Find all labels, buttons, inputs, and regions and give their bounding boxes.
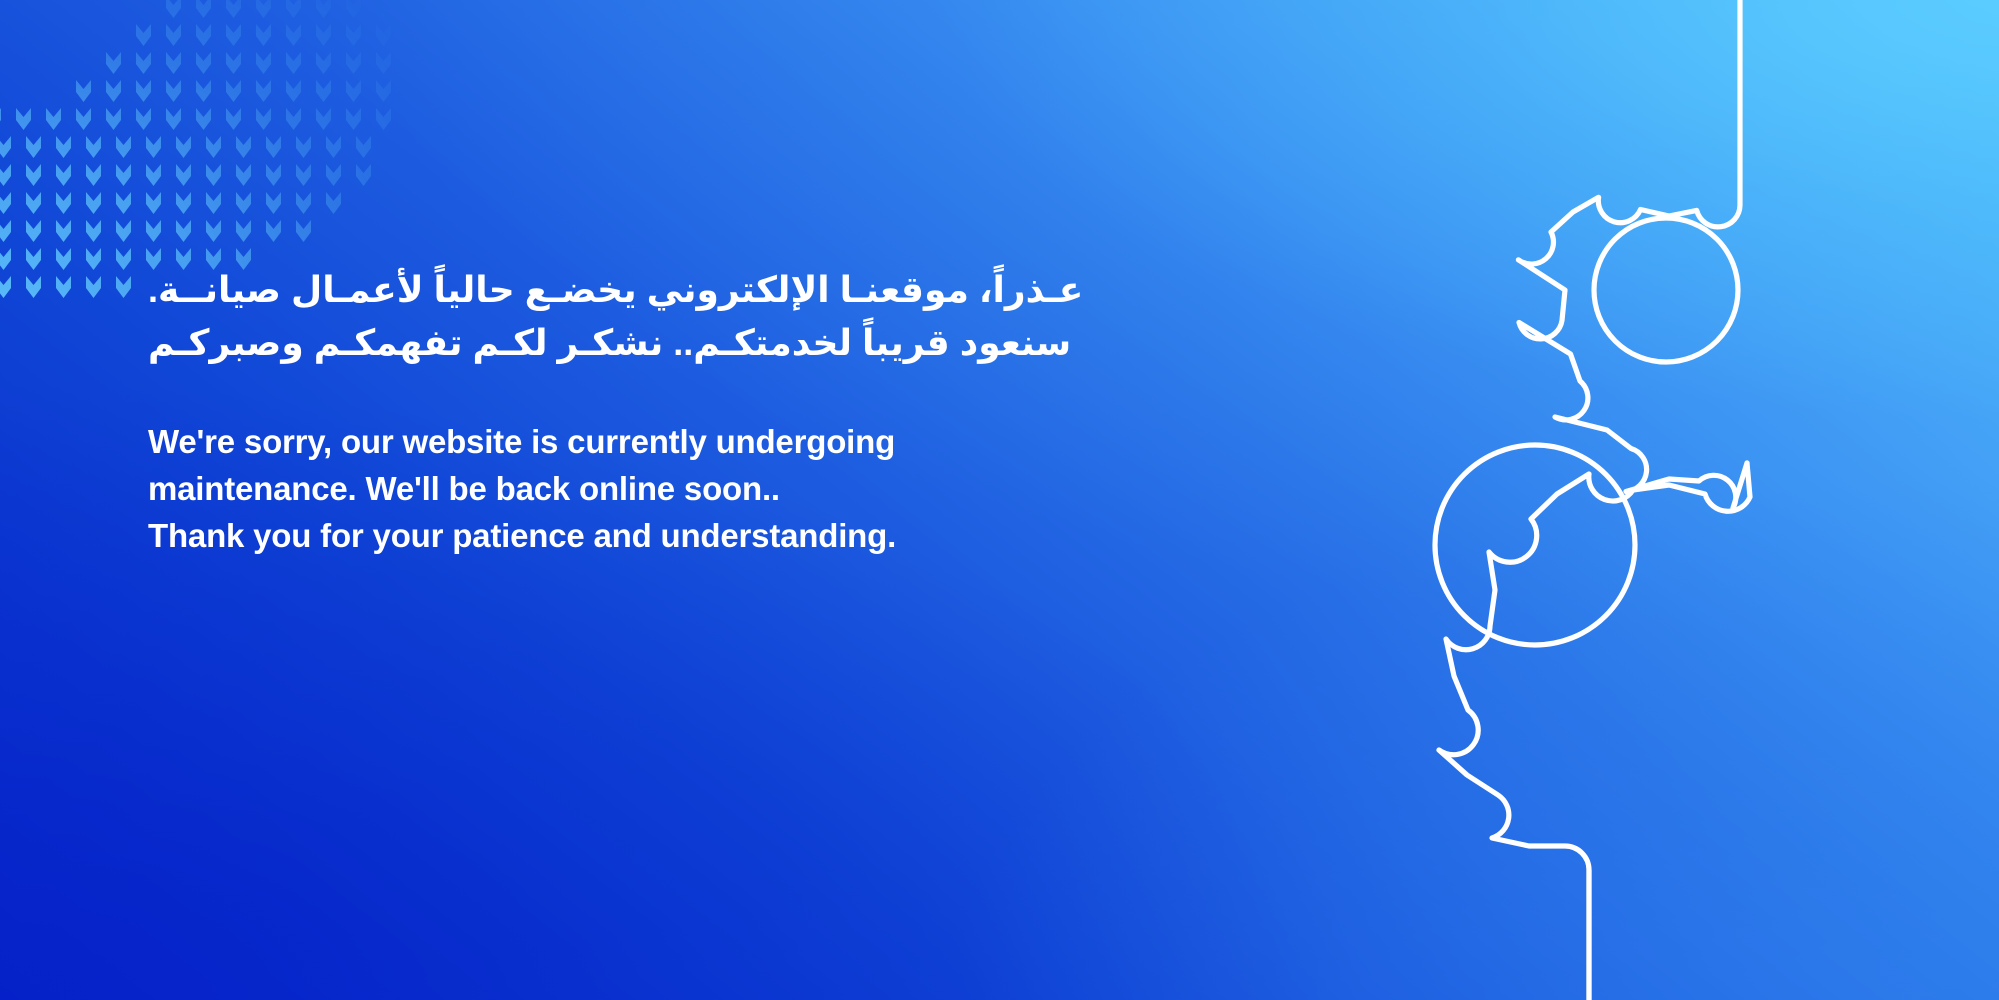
arabic-line-2: سنعود قريباً لخدمتكـم.. نشكـر لكـم تفهمك… (148, 317, 1148, 370)
arabic-line-1: عـذراً، موقعنـا الإلكتروني يخضـع حالياً … (148, 264, 1148, 317)
maintenance-page: عـذراً، موقعنـا الإلكتروني يخضـع حالياً … (0, 0, 1999, 1000)
arabic-message: عـذراً، موقعنـا الإلكتروني يخضـع حالياً … (148, 264, 1148, 369)
english-line-1: We're sorry, our website is currently un… (148, 419, 1148, 466)
english-message: We're sorry, our website is currently un… (148, 419, 1148, 560)
english-line-3: Thank you for your patience and understa… (148, 513, 1148, 560)
english-line-2: maintenance. We'll be back online soon.. (148, 466, 1148, 513)
maintenance-message-block: عـذراً، موقعنـا الإلكتروني يخضـع حالياً … (148, 264, 1148, 560)
